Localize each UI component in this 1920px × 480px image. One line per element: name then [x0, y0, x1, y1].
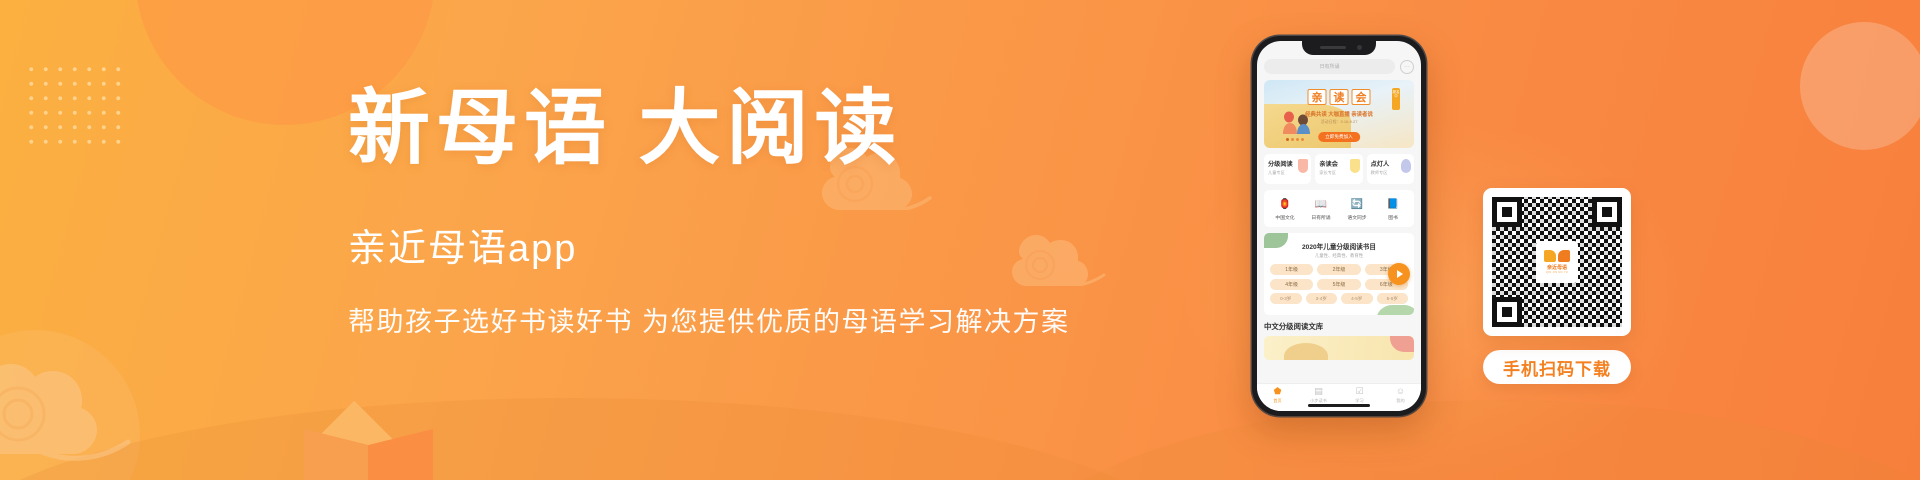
category-cards: 分级阅读 儿童专区 亲读会 家长专区 点灯人 教师专区: [1264, 154, 1414, 184]
tab-study[interactable]: ☑ 学习: [1339, 387, 1380, 411]
hero-flag-badge: 报名中: [1392, 88, 1400, 110]
quick-link-label: 图书: [1375, 214, 1411, 221]
hero-banner[interactable]: 亲 读 会 报名中 经典共读 大咖直播 亲读者说 活动日程：9.16-9.27 …: [1264, 80, 1414, 148]
grade-row: 4年级 5年级 6年级: [1270, 279, 1408, 290]
search-input[interactable]: 日有所诵: [1264, 59, 1395, 74]
quick-link-label: 日有所诵: [1303, 214, 1339, 221]
hero-title-char-0: 亲: [1308, 89, 1327, 105]
hero-title-char-2: 会: [1352, 89, 1371, 105]
leaf-decoration-icon: [1376, 305, 1414, 315]
category-card-graded-reading[interactable]: 分级阅读 儿童专区: [1264, 154, 1311, 184]
lantern-icon: 🏮: [1278, 197, 1292, 211]
hero-join-button[interactable]: 立即免费加入: [1318, 132, 1360, 142]
grades-subtitle: 儿童性、经典性、教育性: [1270, 253, 1408, 259]
book-open-icon: 📖: [1314, 197, 1328, 211]
tab-label: 首页: [1257, 398, 1298, 404]
book-logo-icon: [1544, 250, 1570, 262]
decorative-circle-bottom-left: [0, 330, 140, 480]
decorative-hill-left: [0, 398, 1200, 480]
banner-copy: 新母语 大阅读 亲近母语app 帮助孩子选好书读好书 为您提供优质的母语学习解决…: [348, 86, 1028, 339]
library-section-title: 中文分级阅读文库: [1264, 321, 1414, 332]
hero-title-char-1: 读: [1330, 89, 1349, 105]
tab-home[interactable]: ⬟ 首页: [1257, 387, 1298, 411]
library-card[interactable]: [1264, 336, 1414, 360]
home-icon: ⬟: [1257, 387, 1298, 396]
home-indicator: [1308, 404, 1370, 408]
quick-link-label: 中国文化: [1267, 214, 1303, 221]
app-search-row: 日有所诵 ···: [1264, 59, 1414, 74]
tab-reading[interactable]: ▤ 小步读书: [1298, 387, 1339, 411]
hero-title: 亲 读 会: [1308, 89, 1371, 105]
hero-date: 活动日程：9.16-9.27: [1321, 119, 1358, 125]
decorative-cube: [296, 405, 454, 480]
grade-pill[interactable]: 2年级: [1317, 264, 1360, 275]
user-icon: ☺: [1380, 387, 1421, 396]
checklist-icon: ☑: [1339, 387, 1380, 396]
qr-finder-icon: [1592, 197, 1622, 227]
qr-download-block: 亲近母语 QIN JIN MU YU 手机扫码下载: [1483, 188, 1631, 384]
hero-subtitle: 经典共读 大咖直播 亲读者说: [1305, 110, 1373, 118]
book-icon: 📘: [1386, 197, 1400, 211]
grade-pill[interactable]: 1年级: [1270, 264, 1313, 275]
qr-finder-icon: [1492, 197, 1522, 227]
age-pill[interactable]: 0-3岁: [1270, 293, 1302, 304]
decorative-cloud-bottom-left: [0, 352, 142, 472]
decorative-circle-top-right: [1800, 22, 1920, 150]
headline: 新母语 大阅读: [348, 86, 1028, 173]
banner-description: 帮助孩子选好书读好书 为您提供优质的母语学习解决方案: [348, 300, 1028, 339]
quick-links: 🏮 中国文化 📖 日有所诵 🔄 语文同步 📘 图书: [1264, 190, 1414, 227]
promo-banner: 新母语 大阅读 亲近母语app 帮助孩子选好书读好书 为您提供优质的母语学习解决…: [0, 0, 1920, 480]
hero-carousel-dots[interactable]: [1286, 138, 1304, 141]
message-icon[interactable]: ···: [1400, 60, 1414, 74]
download-button[interactable]: 手机扫码下载: [1483, 350, 1631, 384]
grade-pill[interactable]: 4年级: [1270, 279, 1313, 290]
decorative-hill-right: [1010, 400, 1920, 480]
tab-profile[interactable]: ☺ 我的: [1380, 387, 1421, 411]
quick-link-language-sync[interactable]: 🔄 语文同步: [1339, 197, 1375, 221]
subheadline: 亲近母语app: [348, 217, 1028, 272]
list-icon: ▤: [1298, 387, 1339, 396]
tab-label: 我的: [1380, 398, 1421, 404]
decorative-dot-grid: [24, 62, 128, 154]
phone-mockup: 日有所诵 ··· 亲 读 会 报名中: [1252, 36, 1426, 416]
phone-screen: 日有所诵 ··· 亲 读 会 报名中: [1257, 41, 1421, 411]
category-card-lamplighter[interactable]: 点灯人 教师专区: [1367, 154, 1414, 184]
phone-notch: [1302, 41, 1376, 55]
qr-code-box: 亲近母语 QIN JIN MU YU: [1483, 188, 1631, 336]
age-pill[interactable]: 4-5岁: [1341, 293, 1373, 304]
age-pill[interactable]: 5-6岁: [1377, 293, 1409, 304]
qr-code-image: 亲近母语 QIN JIN MU YU: [1492, 197, 1622, 327]
grades-card: 2020年儿童分级阅读书目 儿童性、经典性、教育性 1年级 2年级 3年级 4年…: [1264, 233, 1414, 315]
qr-center-logo: 亲近母语 QIN JIN MU YU: [1536, 241, 1578, 283]
age-pill[interactable]: 3-4岁: [1306, 293, 1338, 304]
app-content: 日有所诵 ··· 亲 读 会 报名中: [1257, 41, 1421, 411]
bookmark-icon: [1298, 159, 1308, 173]
logo-name: 亲近母语: [1547, 264, 1567, 271]
qr-finder-icon: [1492, 297, 1522, 327]
sync-icon: 🔄: [1350, 197, 1364, 211]
play-video-button[interactable]: [1388, 263, 1410, 285]
library-arc-decoration: [1284, 343, 1328, 360]
library-blob-decoration: [1390, 336, 1414, 352]
grades-rows: 1年级 2年级 3年级 4年级 5年级 6年级 0-3岁 3-4岁 4-: [1270, 264, 1408, 304]
category-card-reading-club[interactable]: 亲读会 家长专区: [1315, 154, 1362, 184]
logo-name-en: QIN JIN MU YU: [1546, 271, 1568, 274]
grades-title: 2020年儿童分级阅读书目: [1270, 241, 1408, 251]
grade-pill[interactable]: 5年级: [1317, 279, 1360, 290]
quick-link-chinese-culture[interactable]: 🏮 中国文化: [1267, 197, 1303, 221]
bookmark-icon: [1350, 159, 1360, 173]
quick-link-books[interactable]: 📘 图书: [1375, 197, 1411, 221]
age-row: 0-3岁 3-4岁 4-5岁 5-6岁: [1270, 293, 1408, 304]
person-icon: [1401, 159, 1411, 173]
quick-link-daily-recitation[interactable]: 📖 日有所诵: [1303, 197, 1339, 221]
quick-link-label: 语文同步: [1339, 214, 1375, 221]
